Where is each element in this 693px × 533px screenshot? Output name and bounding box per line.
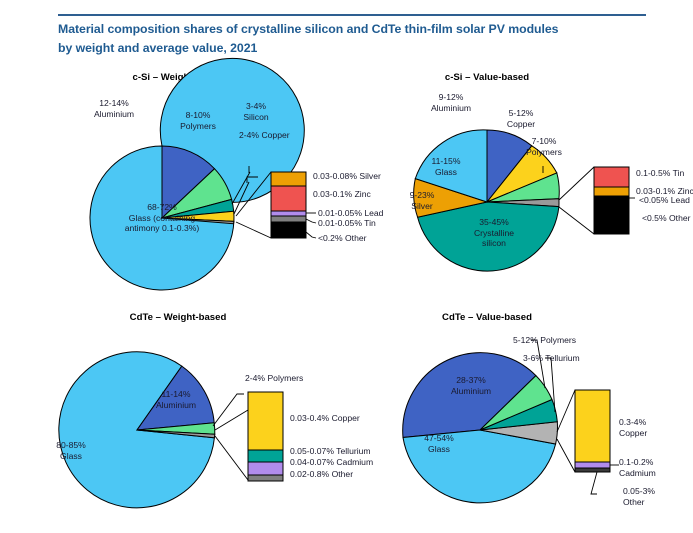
page-title: Material composition shares of crystalli… bbox=[58, 20, 658, 58]
label-csi-value-bar-lead: <0.05% Lead bbox=[639, 195, 690, 206]
label-csi-value-silver: 9-23% Silver bbox=[394, 190, 450, 211]
panel-cdte-weight: CdTe – Weight-based 11-14% Aluminium bbox=[0, 300, 347, 533]
bar-segment-zinc bbox=[594, 187, 629, 196]
label-csi-value-copper: 5-12% Copper bbox=[492, 108, 550, 129]
label-cdte-value-bar-cadmium: 0.1-0.2% Cadmium bbox=[619, 457, 656, 478]
bar-segment-silver bbox=[271, 172, 306, 186]
bar-segment-lead bbox=[271, 211, 306, 216]
label-csi-value-bar-other: <0.5% Other bbox=[642, 213, 691, 224]
label-cdte-weight-aluminium: 11-14% Aluminium bbox=[140, 389, 212, 410]
tick-other bbox=[306, 232, 316, 238]
leader-line-bar-top bbox=[215, 410, 248, 430]
label-cdte-weight-glass: 80-85% Glass bbox=[38, 440, 104, 461]
label-cdte-value-glass: 47-54% Glass bbox=[409, 433, 469, 454]
bar-segment-zinc bbox=[271, 186, 306, 211]
figure-page: Material composition shares of crystalli… bbox=[0, 0, 693, 533]
title-rule bbox=[58, 14, 646, 16]
label-csi-weight-glass: 68-72% Glass (containing antimony 0.1-0.… bbox=[92, 202, 232, 234]
tick-tin bbox=[306, 219, 316, 223]
label-csi-value-aluminium: 9-12% Aluminium bbox=[415, 92, 487, 113]
bar-segment-copper bbox=[248, 392, 283, 450]
label-csi-weight-aluminium: 12-14% Aluminium bbox=[78, 98, 150, 119]
panel-cdte-value: CdTe – Value-based 2 bbox=[347, 300, 693, 533]
tick-other bbox=[591, 472, 597, 494]
label-cdte-value-bar-copper: 0.3-4% Copper bbox=[619, 417, 647, 438]
leader-line-bar-top bbox=[559, 167, 594, 200]
label-csi-value-polymers: 7-10% Polymers bbox=[513, 136, 575, 157]
bar-segment-other bbox=[594, 199, 629, 234]
bar-segment-copper bbox=[575, 390, 610, 462]
bar-segment-other bbox=[271, 222, 306, 238]
label-cdte-value-bar-other: 0.05-3% Other bbox=[623, 486, 655, 507]
panel-csi-value: c-Si – Value-based bbox=[347, 62, 693, 292]
title-line-1: Material composition shares of crystalli… bbox=[58, 22, 558, 36]
leader-line-bar-bottom bbox=[236, 222, 271, 238]
label-csi-value-crystalline-silicon: 35-45% Crystalline silicon bbox=[451, 217, 537, 249]
label-cdte-weight-bar-other: 0.02-0.8% Other bbox=[290, 469, 353, 480]
label-cdte-value-aluminium: 28-37% Aluminium bbox=[435, 375, 507, 396]
bar-segment-other bbox=[248, 475, 283, 481]
csi-weight-graphic bbox=[0, 62, 347, 292]
label-csi-value-bar-tin: 0.1-0.5% Tin bbox=[636, 168, 684, 179]
leader-line-bar-bottom bbox=[557, 439, 575, 472]
leader-line-bar-bottom bbox=[559, 207, 594, 234]
bar-segment-tin bbox=[271, 216, 306, 222]
bar-segment-other bbox=[575, 468, 610, 472]
leader-line-bar-top bbox=[557, 390, 575, 432]
title-line-2: by weight and average value, 2021 bbox=[58, 41, 257, 55]
label-csi-weight-polymers: 8-10% Polymers bbox=[167, 110, 229, 131]
bar-segment-tin bbox=[594, 167, 629, 187]
label-cdte-weight-polymers: 2-4% Polymers bbox=[245, 373, 303, 384]
bar-segment-cadmium bbox=[248, 462, 283, 475]
bar-segment-cadmium bbox=[575, 462, 610, 468]
leader-line-bar-bottom bbox=[215, 436, 248, 480]
label-csi-weight-silicon: 3-4% Silicon bbox=[232, 101, 280, 122]
label-cdte-value-tellurium: 3-6% Tellurium bbox=[523, 353, 580, 364]
panel-csi-weight: c-Si – Weight-based bbox=[0, 62, 347, 292]
label-csi-weight-copper: 2-4% Copper bbox=[239, 130, 290, 141]
label-csi-value-glass: 11-15% Glass bbox=[418, 156, 474, 177]
bar-segment-tellurium bbox=[248, 450, 283, 462]
leader-line-polymers bbox=[213, 394, 244, 426]
label-cdte-value-polymers: 5-12% Polymers bbox=[513, 335, 576, 346]
